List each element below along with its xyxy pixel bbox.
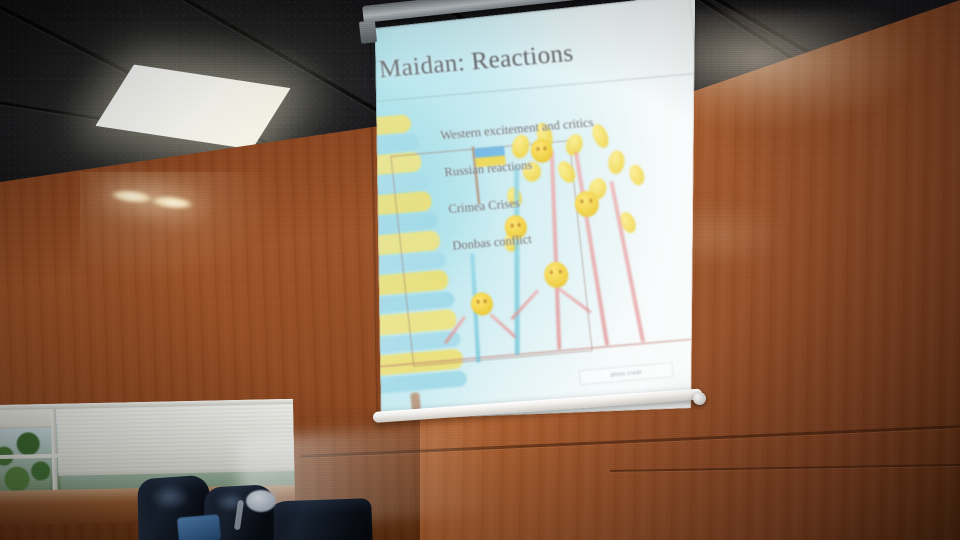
ceiling-light-panel-icon: [95, 64, 290, 149]
room-photo-scene: Maidan: Reactions Western excitement and…: [0, 0, 960, 540]
projection-screen-surface: Maidan: Reactions Western excitement and…: [355, 0, 695, 458]
projected-slide: Maidan: Reactions Western excitement and…: [355, 0, 695, 458]
projection-screen-assembly: Maidan: Reactions Western excitement and…: [355, 0, 707, 488]
slide-bullet-list: Western excitement and critics Russian r…: [440, 107, 685, 274]
slide-title: Maidan: Reactions: [378, 40, 575, 85]
roller-blind[interactable]: [57, 399, 295, 476]
headrest-blob: [246, 490, 276, 512]
slide-canvas: Maidan: Reactions Western excitement and…: [355, 0, 695, 458]
slide-bullet-item: Donbas conflict: [452, 218, 683, 254]
slide-bullet-item: Russian reactions: [444, 144, 675, 180]
slide-border-right: [687, 0, 695, 407]
slide-bullet-item: Crimea Crises: [448, 181, 679, 217]
slide-bullet-item: Western excitement and critics: [440, 107, 671, 143]
screen-bottom-bar-endcap: [693, 392, 707, 406]
chair-fabric: [177, 514, 221, 540]
lecture-chair: [261, 498, 373, 540]
slide-watermark: photo credit: [579, 362, 674, 385]
screen-casing-endcap: [359, 20, 377, 44]
